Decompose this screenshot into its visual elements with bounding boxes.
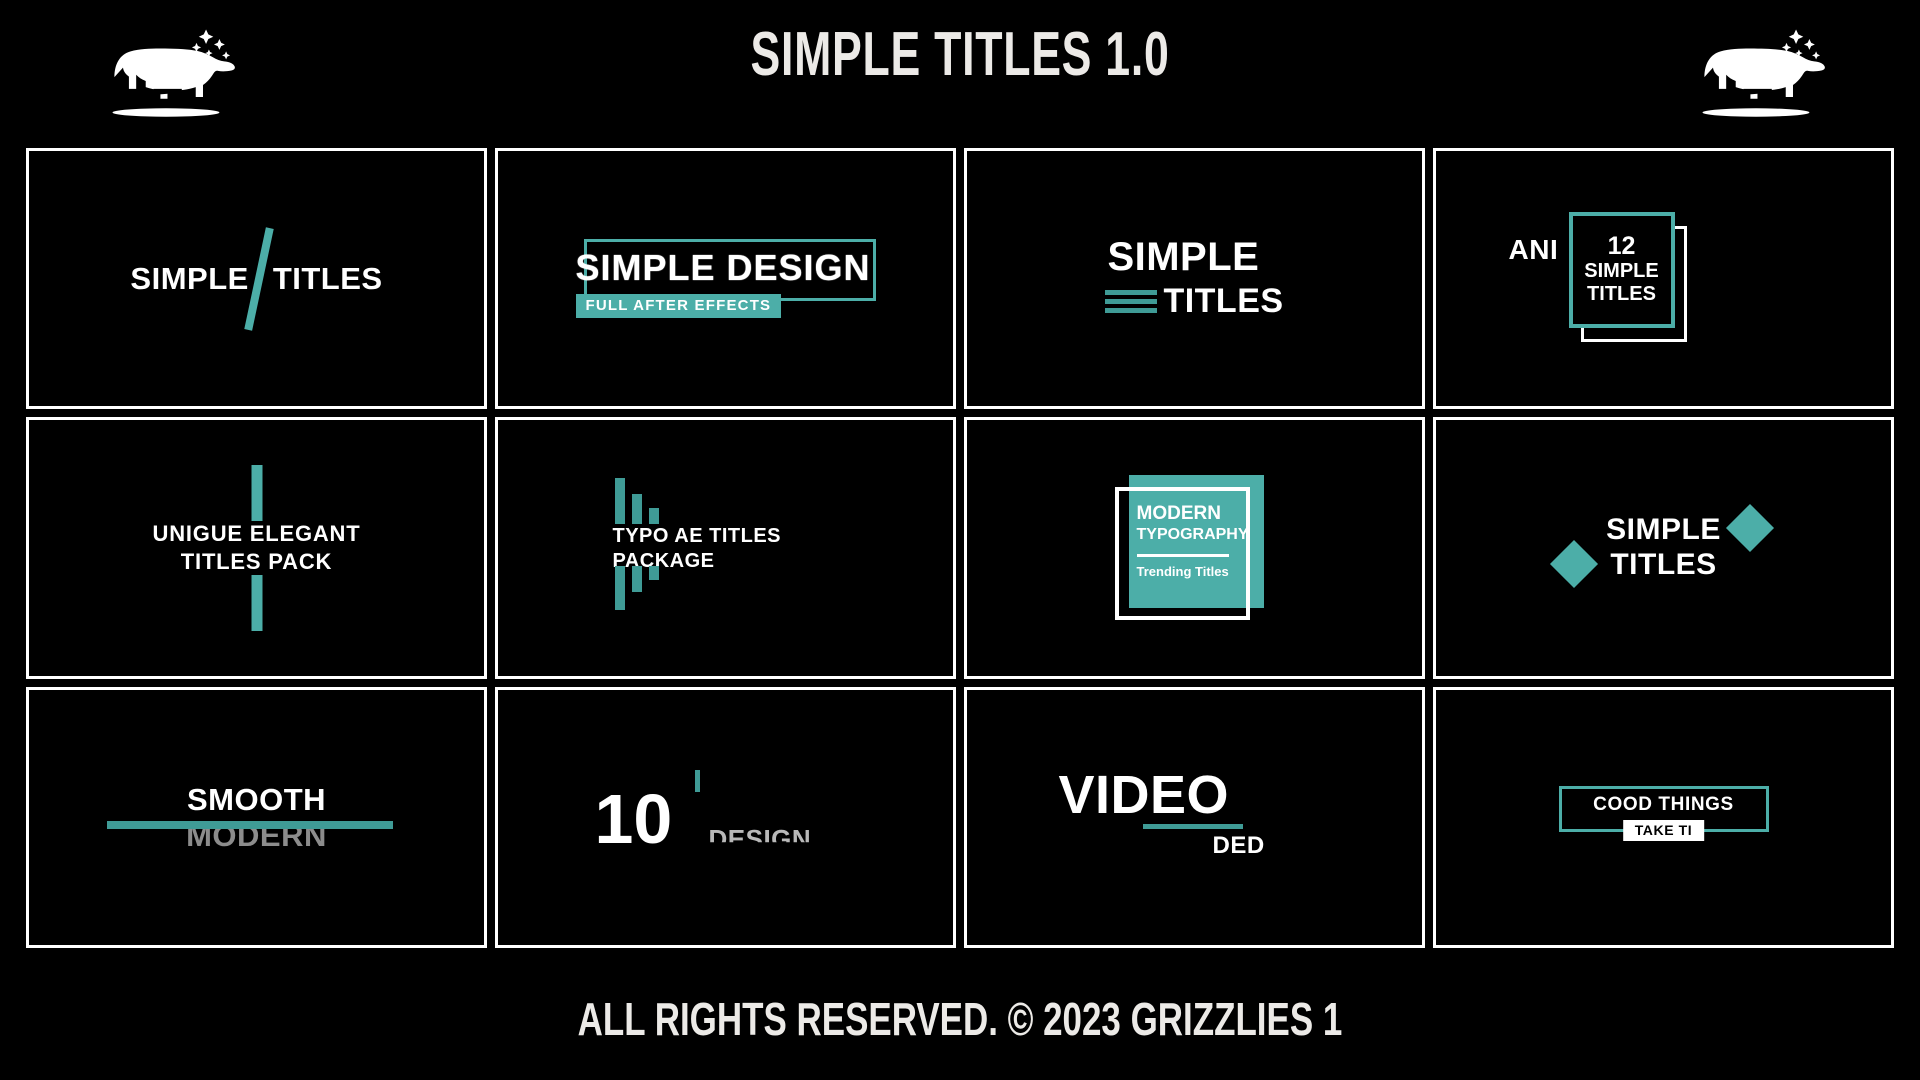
c8-text-block: SIMPLE TITLES bbox=[1606, 513, 1721, 582]
c5-line2: TITLES PACK bbox=[153, 548, 361, 576]
c10-word: DESIGN bbox=[709, 824, 812, 855]
c4-count: 12 bbox=[1608, 233, 1636, 261]
card-content: SIMPLE DESIGN FULL AFTER EFFECTS bbox=[498, 151, 953, 406]
c7-line1: MODERN bbox=[1137, 503, 1247, 525]
vertical-bar-bottom-shape bbox=[251, 575, 262, 631]
c11-line2: DED bbox=[1213, 832, 1265, 860]
c8-line2: TITLES bbox=[1606, 548, 1721, 583]
title-card-simple-design-frame[interactable]: SIMPLE DESIGN FULL AFTER EFFECTS bbox=[495, 148, 956, 409]
card-content: COOD THINGS TAKE TI bbox=[1436, 690, 1891, 945]
title-card-unigue-elegant-titles-pack[interactable]: UNIGUE ELEGANT TITLES PACK bbox=[26, 417, 487, 678]
title-card-cood-things-take-ti[interactable]: COOD THINGS TAKE TI bbox=[1433, 687, 1894, 948]
title-card-ten-design-counter[interactable]: 10 DESIGN bbox=[495, 687, 956, 948]
c5-line1: UNIGUE ELEGANT bbox=[153, 520, 361, 548]
c1-line1: SIMPLE bbox=[130, 261, 248, 297]
title-preview-grid: SIMPLE TITLES SIMPLE DESIGN FULL AFTER E… bbox=[26, 148, 1894, 948]
c10-wrap: 10 DESIGN bbox=[591, 762, 861, 872]
title-card-twelve-simple-titles-box[interactable]: ANI 12 SIMPLE TITLES bbox=[1433, 148, 1894, 409]
c7-wrap: MODERN TYPOGRAPHY Trending Titles bbox=[1115, 475, 1275, 620]
teal-frame-shape: 12 SIMPLE TITLES bbox=[1569, 212, 1675, 328]
c7-line2: TYPOGRAPHY bbox=[1137, 525, 1247, 544]
c5-wrap: UNIGUE ELEGANT TITLES PACK bbox=[107, 463, 407, 633]
c3-line2: TITLES bbox=[1163, 282, 1283, 321]
c3-line1: SIMPLE bbox=[1107, 237, 1283, 277]
teal-reveal-bar-shape bbox=[107, 821, 393, 829]
card-content: UNIGUE ELEGANT TITLES PACK bbox=[29, 420, 484, 675]
teal-underline-shape bbox=[1143, 824, 1243, 829]
stripe-group-shape bbox=[1105, 290, 1157, 313]
teal-tick-shape bbox=[695, 770, 700, 792]
card-content: SMOOTH MODERN bbox=[29, 690, 484, 945]
title-card-video-ded-underline[interactable]: VIDEO DED bbox=[964, 687, 1425, 948]
title-card-typo-ae-titles-package[interactable]: TYPO AE TITLES PACKAGE bbox=[495, 417, 956, 678]
c2-wrap: SIMPLE DESIGN FULL AFTER EFFECTS bbox=[576, 239, 876, 319]
c7-text-block: MODERN TYPOGRAPHY Trending Titles bbox=[1137, 503, 1247, 578]
c11-wrap: VIDEO DED bbox=[1055, 762, 1335, 872]
card-content: MODERN TYPOGRAPHY Trending Titles bbox=[967, 420, 1422, 675]
c2-title: SIMPLE DESIGN bbox=[576, 247, 871, 289]
title-card-simple-titles-slash[interactable]: SIMPLE TITLES bbox=[26, 148, 487, 409]
c11-line1: VIDEO bbox=[1059, 768, 1230, 822]
header: SIMPLE TITLES 1.0 bbox=[0, 0, 1920, 140]
c5-text-block: UNIGUE ELEGANT TITLES PACK bbox=[153, 520, 361, 575]
diamond-bottom-left-shape bbox=[1549, 540, 1597, 588]
preview-sheet: SIMPLE TITLES 1.0 bbox=[0, 0, 1920, 1080]
card-content: TYPO AE TITLES PACKAGE bbox=[498, 420, 953, 675]
page-title: SIMPLE TITLES 1.0 bbox=[269, 22, 1651, 87]
equalizer-bars-bottom-shape bbox=[615, 566, 659, 610]
divider-rule-shape bbox=[1137, 554, 1229, 557]
c4-line1: SIMPLE bbox=[1584, 260, 1658, 283]
c12-subtitle: TAKE TI bbox=[1623, 820, 1705, 841]
card-content: SIMPLE TITLES bbox=[1436, 420, 1891, 675]
polar-bear-logo-left bbox=[90, 18, 240, 123]
card-content: ANI 12 SIMPLE TITLES bbox=[1436, 151, 1891, 406]
c4-behind-text: ANI bbox=[1509, 234, 1559, 266]
card-content: 10 DESIGN bbox=[498, 690, 953, 945]
title-card-smooth-modern-reveal[interactable]: SMOOTH MODERN bbox=[26, 687, 487, 948]
c1-wrap: SIMPLE TITLES bbox=[130, 261, 382, 297]
diamond-top-right-shape bbox=[1725, 504, 1773, 552]
title-card-simple-titles-diamonds[interactable]: SIMPLE TITLES bbox=[1433, 417, 1894, 678]
c12-title: COOD THINGS bbox=[1559, 794, 1769, 816]
c12-wrap: COOD THINGS TAKE TI bbox=[1559, 786, 1769, 848]
equalizer-bars-top-shape bbox=[615, 478, 659, 524]
c4-wrap: ANI 12 SIMPLE TITLES bbox=[1499, 204, 1829, 354]
c10-number: 10 bbox=[595, 784, 673, 854]
polar-bear-logo-right bbox=[1680, 18, 1830, 123]
copyright-footer: ALL RIGHTS RESERVED. © 2023 GRIZZLIES 1 bbox=[230, 992, 1689, 1046]
card-content: SIMPLE TITLES bbox=[967, 151, 1422, 406]
c1-line2: TITLES bbox=[273, 261, 383, 297]
c4-line2: TITLES bbox=[1587, 283, 1656, 306]
c2-subtitle: FULL AFTER EFFECTS bbox=[576, 294, 782, 318]
c6-wrap: TYPO AE TITLES PACKAGE bbox=[581, 468, 871, 628]
card-content: VIDEO DED bbox=[967, 690, 1422, 945]
c8-line1: SIMPLE bbox=[1606, 513, 1721, 548]
c6-line1: TYPO AE TITLES bbox=[613, 524, 782, 549]
title-card-modern-typography[interactable]: MODERN TYPOGRAPHY Trending Titles bbox=[964, 417, 1425, 678]
c3-row: TITLES bbox=[1105, 282, 1283, 321]
c7-line3: Trending Titles bbox=[1137, 564, 1247, 579]
c9-line1: SMOOTH bbox=[107, 782, 407, 818]
c8-wrap: SIMPLE TITLES bbox=[1539, 493, 1789, 603]
c9-wrap: SMOOTH MODERN bbox=[107, 772, 407, 862]
vertical-bar-top-shape bbox=[251, 465, 262, 521]
card-content: SIMPLE TITLES bbox=[29, 151, 484, 406]
c3-wrap: SIMPLE TITLES bbox=[1105, 237, 1283, 321]
title-card-simple-titles-stripes[interactable]: SIMPLE TITLES bbox=[964, 148, 1425, 409]
